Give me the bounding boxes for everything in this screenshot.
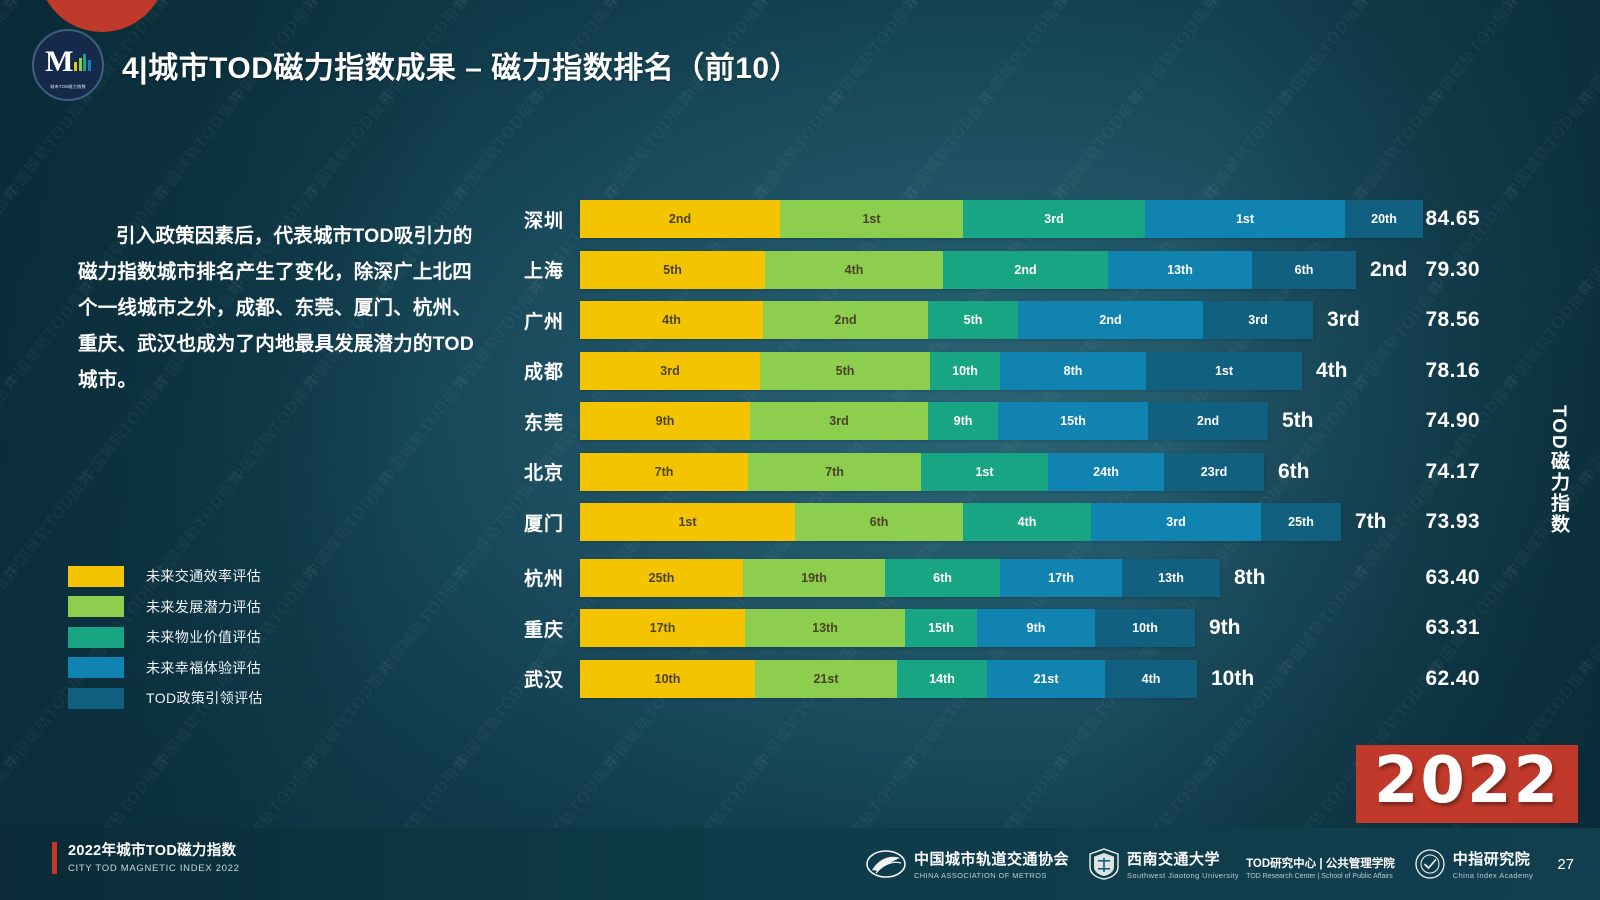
bar-segment: 1st	[1146, 352, 1302, 390]
legend-item[interactable]: 未来交通效率评估	[68, 561, 263, 592]
footer-organizations: 中国城市轨道交通协会 CHINA ASSOCIATION OF METROS 西…	[866, 828, 1600, 900]
chart-row: 成都3rd5th10th8th1st4th78.16	[500, 352, 1560, 390]
city-label: 重庆	[500, 615, 580, 642]
segment-rank-label: 4th	[845, 263, 864, 277]
bar-segment: 23rd	[1164, 453, 1264, 491]
index-score-value: 84.65	[1425, 207, 1480, 231]
segment-rank-label: 10th	[655, 672, 681, 686]
city-label: 上海	[500, 256, 580, 283]
metro-swoosh-icon	[866, 849, 906, 879]
bar-segment: 3rd	[580, 352, 760, 390]
segment-rank-label: 4th	[662, 313, 681, 327]
bar-segment: 10th	[580, 660, 755, 698]
segment-rank-label: 17th	[650, 621, 676, 635]
bar-segment: 4th	[765, 251, 943, 289]
bar-segment: 2nd	[943, 251, 1108, 289]
bar-segment: 7th	[580, 453, 748, 491]
bar-segment: 1st	[780, 200, 963, 238]
footer-title-en: CITY TOD MAGNETIC INDEX 2022	[68, 863, 240, 874]
chart-legend: 未来交通效率评估未来发展潜力评估未来物业价值评估未来幸福体验评估TOD政策引领评…	[68, 561, 263, 714]
segment-rank-label: 13th	[812, 621, 838, 635]
y-axis-label: TOD磁力指数	[1545, 405, 1572, 535]
segment-rank-label: 10th	[952, 364, 978, 378]
bar-segment: 8th	[1000, 352, 1146, 390]
segment-rank-label: 5th	[836, 364, 855, 378]
bar-segment: 25th	[1261, 503, 1341, 541]
overall-rank-label: 5th	[1282, 409, 1314, 433]
city-label: 东莞	[500, 408, 580, 435]
summary-paragraph: 引入政策因素后，代表城市TOD吸引力的磁力指数城市排名产生了变化，除深广上北四个…	[78, 218, 478, 398]
bar-segment: 1st	[921, 453, 1048, 491]
stacked-bar: 1st6th4th3rd25th	[580, 503, 1341, 541]
segment-rank-label: 13th	[1167, 263, 1193, 277]
stacked-bar: 17th13th15th9th10th	[580, 609, 1195, 647]
legend-label: 未来发展潜力评估	[146, 597, 261, 617]
chart-row: 深圳2nd1st3rd1st20th84.65	[500, 200, 1560, 238]
city-label: 武汉	[500, 665, 580, 692]
bar-segment: 3rd	[963, 200, 1145, 238]
chart-row: 上海5th4th2nd13th6th2nd79.30	[500, 251, 1560, 289]
segment-rank-label: 7th	[825, 465, 844, 479]
segment-rank-label: 17th	[1048, 571, 1074, 585]
city-label: 成都	[500, 357, 580, 384]
stacked-bar: 3rd5th10th8th1st	[580, 352, 1302, 390]
bar-segment: 2nd	[1148, 402, 1268, 440]
segment-rank-label: 1st	[1215, 364, 1233, 378]
legend-item[interactable]: 未来幸福体验评估	[68, 653, 263, 684]
legend-label: 未来物业价值评估	[146, 627, 261, 647]
bar-segment: 1st	[1145, 200, 1345, 238]
bar-segment: 24th	[1048, 453, 1164, 491]
legend-label: TOD政策引领评估	[146, 688, 263, 708]
overall-rank-label: 7th	[1355, 510, 1387, 534]
segment-rank-label: 2nd	[669, 212, 691, 226]
segment-rank-label: 2nd	[1197, 414, 1219, 428]
segment-rank-label: 2nd	[1099, 313, 1121, 327]
segment-rank-label: 15th	[928, 621, 954, 635]
segment-rank-label: 2nd	[834, 313, 856, 327]
overall-rank-label: 4th	[1316, 359, 1348, 383]
year-badge-text: 2022	[1374, 749, 1560, 813]
bar-segment: 3rd	[1203, 301, 1313, 339]
legend-label: 未来交通效率评估	[146, 566, 261, 586]
legend-item[interactable]: TOD政策引领评估	[68, 683, 263, 714]
segment-rank-label: 25th	[649, 571, 675, 585]
index-score-value: 73.93	[1425, 510, 1480, 534]
overall-rank-label: 2nd	[1370, 258, 1407, 282]
bar-segment: 25th	[580, 559, 743, 597]
city-label: 广州	[500, 307, 580, 334]
legend-swatch-icon	[68, 688, 124, 709]
bar-segment: 15th	[905, 609, 977, 647]
footer-title-cn: 2022年城市TOD磁力指数	[68, 842, 240, 860]
segment-rank-label: 21st	[813, 672, 838, 686]
bar-segment: 3rd	[750, 402, 928, 440]
bar-segment: 13th	[745, 609, 905, 647]
legend-swatch-icon	[68, 657, 124, 678]
segment-rank-label: 4th	[1018, 515, 1037, 529]
city-label: 杭州	[500, 564, 580, 591]
legend-swatch-icon	[68, 627, 124, 648]
chart-row: 武汉10th21st14th21st4th10th62.40	[500, 660, 1560, 698]
bar-segment: 21st	[987, 660, 1105, 698]
slide-footer: 2022年城市TOD磁力指数 CITY TOD MAGNETIC INDEX 2…	[0, 828, 1600, 900]
segment-rank-label: 3rd	[1166, 515, 1185, 529]
segment-rank-label: 6th	[870, 515, 889, 529]
academy-seal-icon	[1415, 849, 1445, 879]
legend-swatch-icon	[68, 596, 124, 617]
logo-caption: 城市TOD磁力指数	[34, 84, 102, 90]
bar-segment: 1st	[580, 503, 795, 541]
org-logo-china-index-academy: 中指研究院 China Index Academy	[1415, 848, 1534, 880]
bar-segment: 4th	[963, 503, 1091, 541]
segment-rank-label: 6th	[933, 571, 952, 585]
org-logo-china-association-of-metros: 中国城市轨道交通协会 CHINA ASSOCIATION OF METROS	[866, 848, 1069, 880]
bar-segment: 10th	[1095, 609, 1195, 647]
logo-letter: M	[45, 47, 73, 77]
segment-rank-label: 24th	[1093, 465, 1119, 479]
overall-rank-label: 6th	[1278, 460, 1310, 484]
city-label: 深圳	[500, 206, 580, 233]
bar-segment: 2nd	[580, 200, 780, 238]
segment-rank-label: 1st	[862, 212, 880, 226]
index-score-value: 78.56	[1425, 308, 1480, 332]
index-score-value: 79.30	[1425, 258, 1480, 282]
chart-row: 厦门1st6th4th3rd25th7th73.93	[500, 503, 1560, 541]
chart-row: 杭州25th19th6th17th13th8th63.40	[500, 559, 1560, 597]
bar-segment: 21st	[755, 660, 897, 698]
org1-name-en: CHINA ASSOCIATION OF METROS	[914, 871, 1069, 880]
org2-sub-en: TOD Research Center | School of Public A…	[1246, 873, 1395, 880]
segment-rank-label: 7th	[655, 465, 674, 479]
segment-rank-label: 4th	[1142, 672, 1161, 686]
org3-name-en: China Index Academy	[1453, 871, 1534, 880]
chart-row: 东莞9th3rd9th15th2nd5th74.90	[500, 402, 1560, 440]
segment-rank-label: 21st	[1033, 672, 1058, 686]
slide-header: M 城市TOD磁力指数 4|城市TOD磁力指数成果 – 磁力指数排名（前10）	[0, 22, 1600, 108]
segment-rank-label: 1st	[975, 465, 993, 479]
bar-segment: 19th	[743, 559, 885, 597]
org1-name-cn: 中国城市轨道交通协会	[914, 848, 1069, 869]
bar-segment: 13th	[1122, 559, 1220, 597]
city-label: 厦门	[500, 509, 580, 536]
legend-swatch-icon	[68, 566, 124, 587]
stacked-bar: 7th7th1st24th23rd	[580, 453, 1264, 491]
bar-segment: 5th	[580, 251, 765, 289]
org2-sub-cn: TOD研究中心 | 公共管理学院	[1246, 855, 1395, 871]
bar-segment: 20th	[1345, 200, 1423, 238]
stacked-bar: 25th19th6th17th13th	[580, 559, 1220, 597]
footer-accent-bar	[52, 842, 57, 874]
index-score-value: 74.90	[1425, 409, 1480, 433]
segment-rank-label: 10th	[1132, 621, 1158, 635]
bar-segment: 3rd	[1091, 503, 1261, 541]
segment-rank-label: 2nd	[1014, 263, 1036, 277]
bar-segment: 5th	[760, 352, 930, 390]
city-tod-magnetic-index-logo-icon: M 城市TOD磁力指数	[32, 29, 104, 101]
index-score-value: 74.17	[1425, 460, 1480, 484]
overall-rank-label: 9th	[1209, 616, 1241, 640]
segment-rank-label: 19th	[801, 571, 827, 585]
segment-rank-label: 20th	[1371, 212, 1397, 226]
university-crest-icon	[1089, 848, 1119, 880]
bar-segment: 9th	[977, 609, 1095, 647]
segment-rank-label: 3rd	[660, 364, 679, 378]
segment-rank-label: 5th	[964, 313, 983, 327]
overall-rank-label: 3rd	[1327, 308, 1360, 332]
stacked-bar: 2nd1st3rd1st20th	[580, 200, 1423, 238]
bar-segment: 2nd	[1018, 301, 1203, 339]
segment-rank-label: 23rd	[1201, 465, 1227, 479]
org-logo-southwest-jiaotong-university: 西南交通大学 Southwest Jiaotong University TOD…	[1089, 848, 1395, 880]
index-score-value: 63.31	[1425, 616, 1480, 640]
page-title: 4|城市TOD磁力指数成果 – 磁力指数排名（前10）	[122, 43, 800, 87]
bar-segment: 14th	[897, 660, 987, 698]
city-label: 北京	[500, 458, 580, 485]
bar-segment: 7th	[748, 453, 921, 491]
segment-rank-label: 1st	[678, 515, 696, 529]
index-score-value: 63.40	[1425, 566, 1480, 590]
footer-report-title: 2022年城市TOD磁力指数 CITY TOD MAGNETIC INDEX 2…	[52, 842, 240, 874]
segment-rank-label: 3rd	[1044, 212, 1063, 226]
stacked-bar-chart: 深圳2nd1st3rd1st20th84.65上海5th4th2nd13th6t…	[500, 200, 1560, 720]
chart-row: 重庆17th13th15th9th10th9th63.31	[500, 609, 1560, 647]
legend-label: 未来幸福体验评估	[146, 658, 261, 678]
bar-segment: 4th	[580, 301, 763, 339]
stacked-bar: 9th3rd9th15th2nd	[580, 402, 1268, 440]
bar-segment: 9th	[928, 402, 998, 440]
year-badge: 2022	[1356, 745, 1578, 823]
chart-row: 广州4th2nd5th2nd3rd3rd78.56	[500, 301, 1560, 339]
overall-rank-label: 8th	[1234, 566, 1266, 590]
stacked-bar: 4th2nd5th2nd3rd	[580, 301, 1313, 339]
segment-rank-label: 5th	[663, 263, 682, 277]
chart-row: 北京7th7th1st24th23rd6th74.17	[500, 453, 1560, 491]
segment-rank-label: 9th	[656, 414, 675, 428]
bar-segment: 17th	[1000, 559, 1122, 597]
stacked-bar: 10th21st14th21st4th	[580, 660, 1197, 698]
bar-segment: 4th	[1105, 660, 1197, 698]
overall-rank-label: 10th	[1211, 667, 1254, 691]
logo-bar-chart-icon	[74, 53, 91, 71]
bar-segment: 10th	[930, 352, 1000, 390]
legend-item[interactable]: 未来发展潜力评估	[68, 592, 263, 623]
bar-segment: 13th	[1108, 251, 1252, 289]
page-number: 27	[1557, 856, 1574, 873]
org2-name-cn: 西南交通大学	[1127, 848, 1239, 869]
segment-rank-label: 14th	[929, 672, 955, 686]
bar-segment: 9th	[580, 402, 750, 440]
segment-rank-label: 8th	[1064, 364, 1083, 378]
segment-rank-label: 15th	[1060, 414, 1086, 428]
org2-name-en: Southwest Jiaotong University	[1127, 871, 1239, 880]
bar-segment: 6th	[795, 503, 963, 541]
segment-rank-label: 3rd	[1248, 313, 1267, 327]
stacked-bar: 5th4th2nd13th6th	[580, 251, 1356, 289]
legend-item[interactable]: 未来物业价值评估	[68, 622, 263, 653]
segment-rank-label: 9th	[1027, 621, 1046, 635]
bar-segment: 17th	[580, 609, 745, 647]
segment-rank-label: 13th	[1158, 571, 1184, 585]
segment-rank-label: 1st	[1236, 212, 1254, 226]
bar-segment: 6th	[885, 559, 1000, 597]
index-score-value: 78.16	[1425, 359, 1480, 383]
segment-rank-label: 6th	[1295, 263, 1314, 277]
segment-rank-label: 9th	[954, 414, 973, 428]
bar-segment: 2nd	[763, 301, 928, 339]
segment-rank-label: 3rd	[829, 414, 848, 428]
bar-segment: 15th	[998, 402, 1148, 440]
index-score-value: 62.40	[1425, 667, 1480, 691]
segment-rank-label: 25th	[1288, 515, 1314, 529]
org3-name-cn: 中指研究院	[1453, 848, 1534, 869]
bar-segment: 5th	[928, 301, 1018, 339]
bar-segment: 6th	[1252, 251, 1356, 289]
